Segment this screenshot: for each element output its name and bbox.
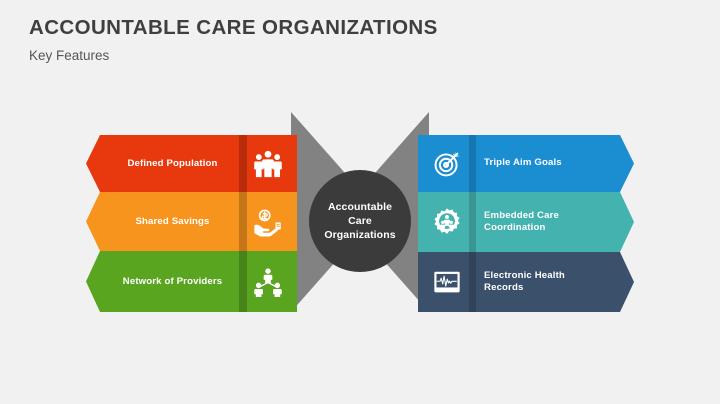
center-circle: Accountable Care Organizations (309, 170, 411, 272)
feature-icon-panel-network-of-providers (239, 251, 297, 312)
feature-arrow-shared-savings[interactable]: Shared Savings (86, 192, 241, 251)
feature-row-triple-aim-goals[interactable]: Triple Aim Goals (418, 135, 634, 192)
ekg-monitor-icon (432, 267, 462, 297)
target-dart-icon (432, 149, 462, 179)
people-group-icon (253, 149, 283, 179)
feature-label-line: Triple Aim Goals (484, 157, 562, 168)
center-label-line1: Accountable (328, 201, 392, 213)
page-title: ACCOUNTABLE CARE ORGANIZATIONS (29, 16, 438, 40)
panel-bevel (239, 192, 247, 251)
feature-arrow-embedded-care-coordination[interactable]: Embedded Care Coordination (466, 192, 634, 252)
feature-label-line: Coordination (484, 222, 546, 233)
gear-person-icon (432, 207, 462, 237)
feature-row-electronic-health-records[interactable]: Electronic Health Records (418, 252, 634, 312)
panel-bevel (239, 135, 247, 192)
feature-label: Triple Aim Goals (484, 157, 562, 170)
feature-arrow-electronic-health-records[interactable]: Electronic Health Records (466, 252, 634, 312)
feature-label: Defined Population (112, 158, 241, 169)
feature-arrow-triple-aim-goals[interactable]: Triple Aim Goals (466, 135, 634, 192)
feature-arrow-defined-population[interactable]: Defined Population (86, 135, 241, 192)
feature-icon-panel-triple-aim-goals (418, 135, 476, 192)
panel-bevel (239, 251, 247, 312)
provider-network-icon (253, 267, 283, 297)
feature-arrow-network-of-providers[interactable]: Network of Providers (86, 251, 241, 312)
feature-row-shared-savings[interactable]: Shared Savings (86, 192, 297, 251)
feature-label-line: Embedded Care (484, 210, 559, 221)
panel-bevel (469, 192, 476, 252)
feature-row-defined-population[interactable]: Defined Population (86, 135, 297, 192)
center-label-line2: Care (348, 215, 372, 227)
feature-label: Embedded Care Coordination (484, 210, 559, 235)
feature-icon-panel-electronic-health-records (418, 252, 476, 312)
center-label-line3: Organizations (324, 229, 395, 241)
feature-label-line: Electronic Health (484, 270, 565, 281)
feature-label-line: Records (484, 282, 523, 293)
feature-row-embedded-care-coordination[interactable]: Embedded Care Coordination (418, 192, 634, 252)
hand-coin-icon (253, 207, 283, 237)
feature-label: Shared Savings (112, 216, 241, 227)
feature-icon-panel-shared-savings (239, 192, 297, 251)
feature-label: Network of Providers (112, 276, 241, 287)
feature-row-network-of-providers[interactable]: Network of Providers (86, 251, 297, 312)
feature-label: Electronic Health Records (484, 270, 565, 295)
page-subtitle: Key Features (29, 48, 109, 63)
feature-icon-panel-embedded-care-coordination (418, 192, 476, 252)
panel-bevel (469, 252, 476, 312)
slide-canvas: ACCOUNTABLE CARE ORGANIZATIONS Key Featu… (0, 0, 720, 404)
feature-icon-panel-defined-population (239, 135, 297, 192)
panel-bevel (469, 135, 476, 192)
